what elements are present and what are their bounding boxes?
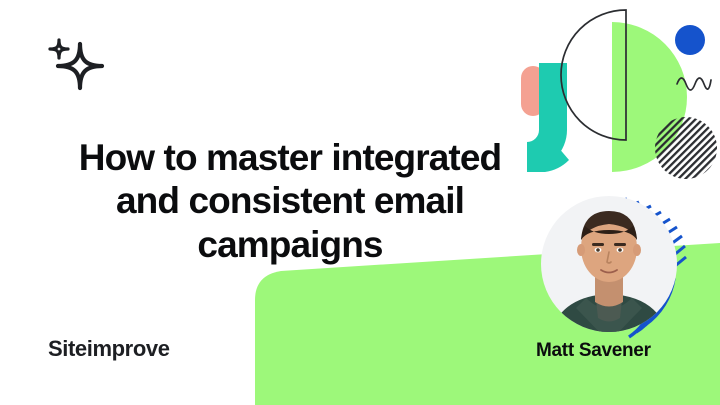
slide-title: How to master integrated and consistent … xyxy=(40,136,540,266)
avatar-portrait-image xyxy=(541,196,677,342)
siteimprove-logo: Siteimprove xyxy=(48,336,170,362)
sparkle-icon xyxy=(40,30,110,100)
dashed-arc-icon xyxy=(606,199,686,337)
speaker-name: Matt Savener xyxy=(536,340,651,362)
green-semicircle xyxy=(612,22,687,172)
black-half-circle-outline xyxy=(561,10,626,140)
blue-circle xyxy=(675,25,705,55)
squiggle-icon xyxy=(677,78,711,90)
slide-canvas: How to master integrated and consistent … xyxy=(0,0,720,405)
green-band xyxy=(255,243,720,405)
salmon-pill xyxy=(521,66,545,116)
striped-circle-icon xyxy=(655,117,717,179)
